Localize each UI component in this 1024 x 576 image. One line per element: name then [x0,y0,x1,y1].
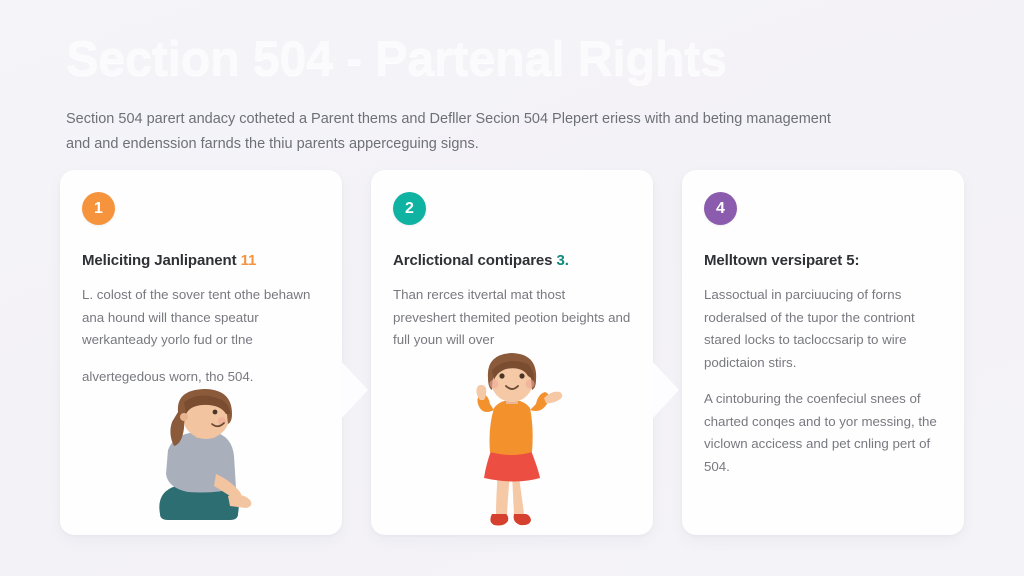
card-paragraph: Than rerces itvertal mat thost prevesher… [393,284,631,352]
card-body-3: Lassoctual in parciuucing of forns roder… [704,284,942,478]
card-paragraph: L. colost of the sover tent othe behawn … [82,284,320,352]
card-title-accent-2: 3. [557,252,569,269]
card-body-1: L. colost of the sover tent othe behawn … [82,284,320,388]
card-paragraph: Lassoctual in parciuucing of forns roder… [704,284,942,374]
card-body-2: Than rerces itvertal mat thost prevesher… [393,284,631,352]
card-title-main-2: Arclictional contipares [393,252,552,269]
standing-girl-illustration [393,352,631,536]
card-title-main-1: Meliciting Janlipanent [82,252,237,269]
card-title-3: Melltown versiparet 5: [704,251,942,271]
step-badge-1: 1 [82,192,115,225]
info-card-2[interactable]: 2 Arclictional contipares 3. Than rerces… [371,170,653,535]
step-badge-2: 2 [393,192,426,225]
step-badge-3: 4 [704,192,737,225]
card-title-2: Arclictional contipares 3. [393,251,631,271]
card-title-1: Meliciting Janlipanent 11 [82,251,320,271]
page-subtitle: Section 504 parert andacy cotheted a Par… [66,107,856,157]
card-paragraph: A cintoburing the coenfeciul snees of ch… [704,388,942,478]
card-title-accent-1: 11 [241,252,257,269]
card-paragraph: alvertegedous worn, tho 504. [82,366,320,389]
info-card-3[interactable]: 4 Melltown versiparet 5: Lassoctual in p… [682,170,964,535]
seated-child-illustration [82,388,320,528]
infographic-page: Section 504 - Partenal Rights Section 50… [0,0,1024,576]
page-header: Section 504 - Partenal Rights Section 50… [66,26,966,157]
info-card-1[interactable]: 1 Meliciting Janlipanent 11 L. colost of… [60,170,342,535]
card-row: 1 Meliciting Janlipanent 11 L. colost of… [60,170,964,535]
page-title: Section 504 - Partenal Rights [66,26,966,92]
card-title-main-3: Melltown versiparet 5: [704,252,859,269]
